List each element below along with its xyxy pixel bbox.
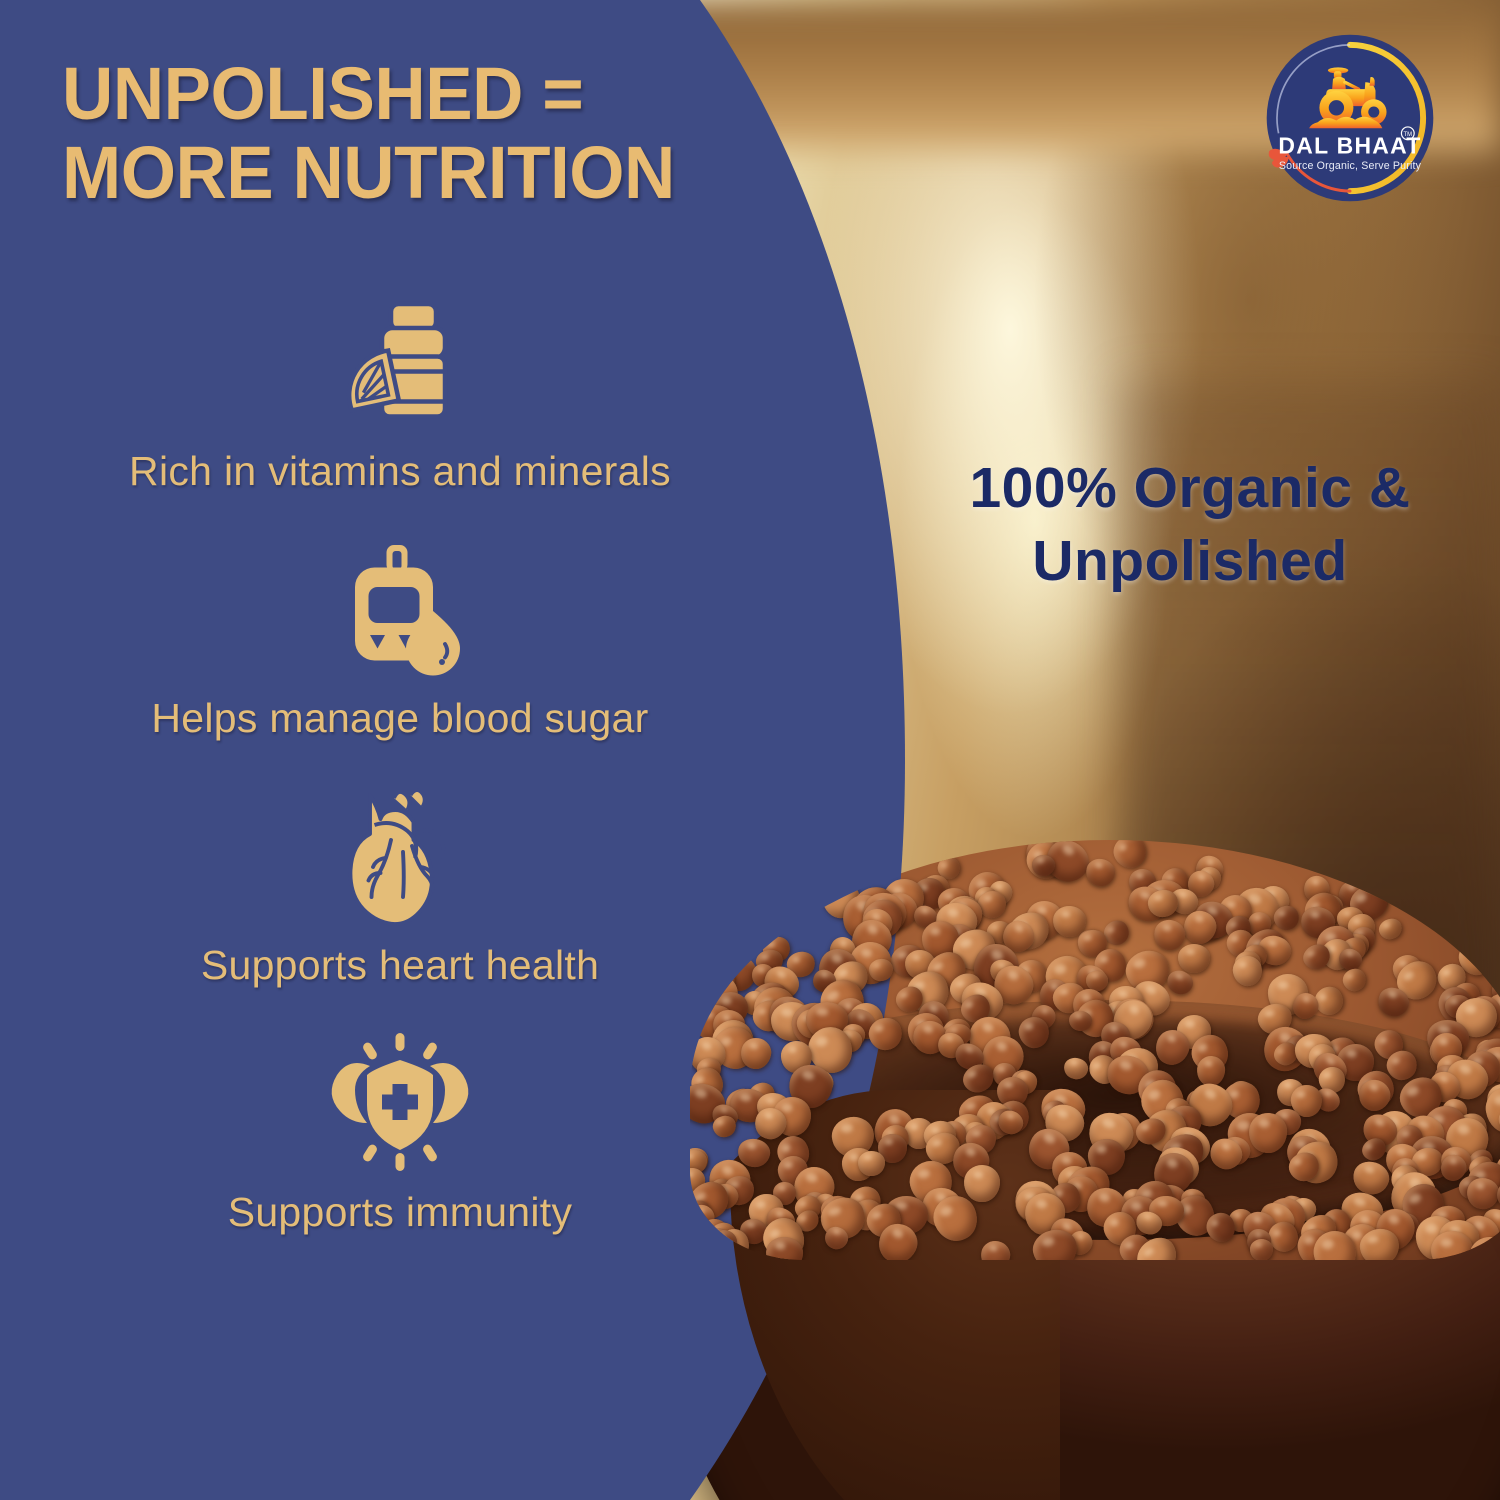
benefit-item-blood-sugar: Helps manage blood sugar: [0, 533, 800, 742]
product-infographic-poster: UNPOLISHED = MORE NUTRITION: [0, 0, 1500, 1500]
page-title: UNPOLISHED = MORE NUTRITION: [62, 54, 849, 212]
benefit-item-vitamins: Rich in vitamins and minerals: [0, 286, 800, 495]
benefit-item-heart: Supports heart health: [0, 780, 800, 989]
svg-text:TM: TM: [1404, 132, 1413, 138]
benefit-label: Helps manage blood sugar: [0, 695, 800, 742]
shield-muscle-immunity-icon: [325, 1027, 475, 1177]
logo-brand-text: DAL BHAAT: [1278, 133, 1421, 159]
headline-line-2: MORE NUTRITION: [62, 133, 849, 212]
benefit-label: Rich in vitamins and minerals: [0, 448, 800, 495]
claim-line-2: Unpolished: [900, 525, 1480, 598]
benefit-label: Supports heart health: [0, 942, 800, 989]
vitamin-bottle-citrus-icon: [325, 286, 475, 436]
claim-line-1: 100% Organic &: [900, 452, 1480, 525]
glucometer-blood-drop-icon: [325, 533, 475, 683]
headline-line-1: UNPOLISHED =: [62, 54, 849, 133]
organic-claim: 100% Organic & Unpolished: [900, 452, 1480, 598]
brand-logo[interactable]: DAL BHAAT TM Source Organic, Serve Purit…: [1265, 33, 1435, 203]
benefit-item-immunity: Supports immunity: [0, 1027, 800, 1236]
anatomical-heart-icon: [325, 780, 475, 930]
logo-tagline-text: Source Organic, Serve Purity: [1279, 160, 1422, 172]
benefit-label: Supports immunity: [0, 1189, 800, 1236]
benefit-list: Rich in vitamins and minerals: [0, 286, 800, 1274]
